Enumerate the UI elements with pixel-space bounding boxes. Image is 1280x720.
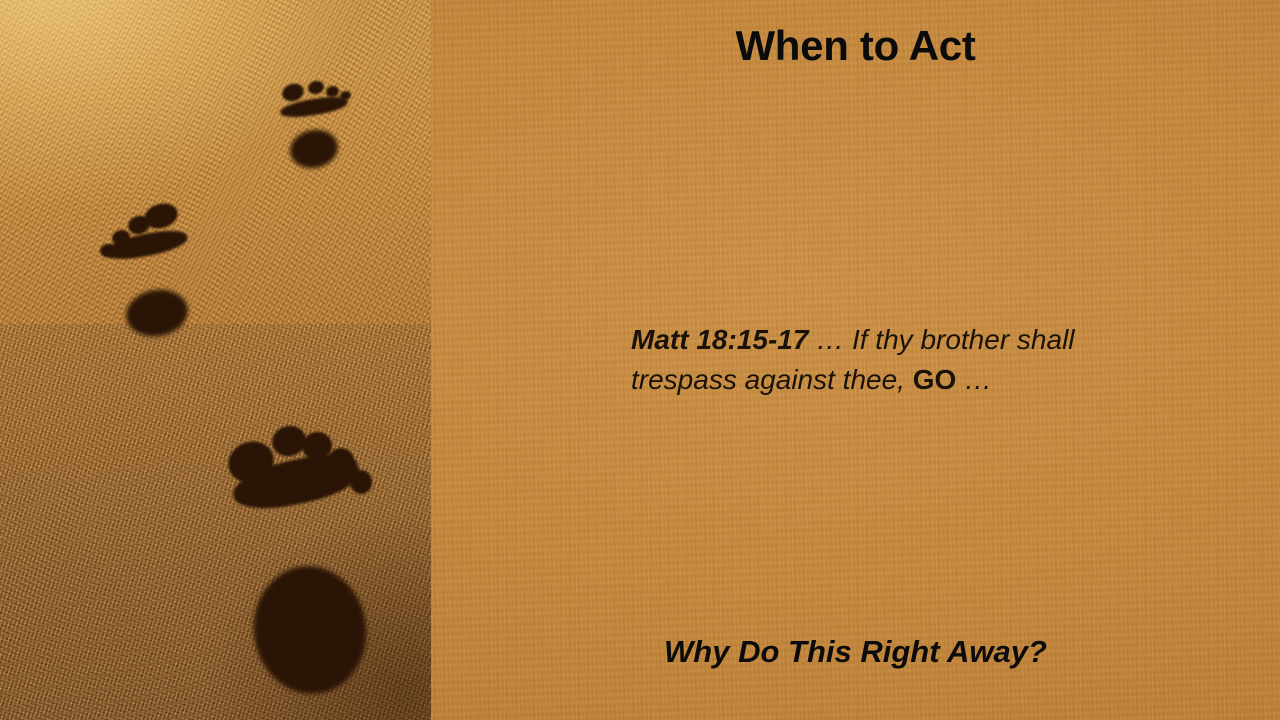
footprint-near — [214, 418, 431, 718]
scripture-trailing-ellipsis: … — [956, 364, 992, 395]
scripture-emphasis-go: GO — [913, 364, 957, 395]
slide-tagline-question: Why Do This Right Away? — [431, 634, 1280, 670]
scripture-reference: Matt 18:15-17 — [631, 324, 808, 355]
slide-title: When to Act — [431, 22, 1280, 70]
presentation-slide: When to Act Matt 18:15-17 … If thy broth… — [0, 0, 1280, 720]
scripture-quote: Matt 18:15-17 … If thy brother shall tre… — [631, 320, 1131, 400]
footprints-in-sand-photo — [0, 0, 431, 720]
footprint-far — [268, 78, 378, 188]
scripture-lead-ellipsis: … — [808, 324, 852, 355]
footprint-middle — [92, 200, 242, 360]
